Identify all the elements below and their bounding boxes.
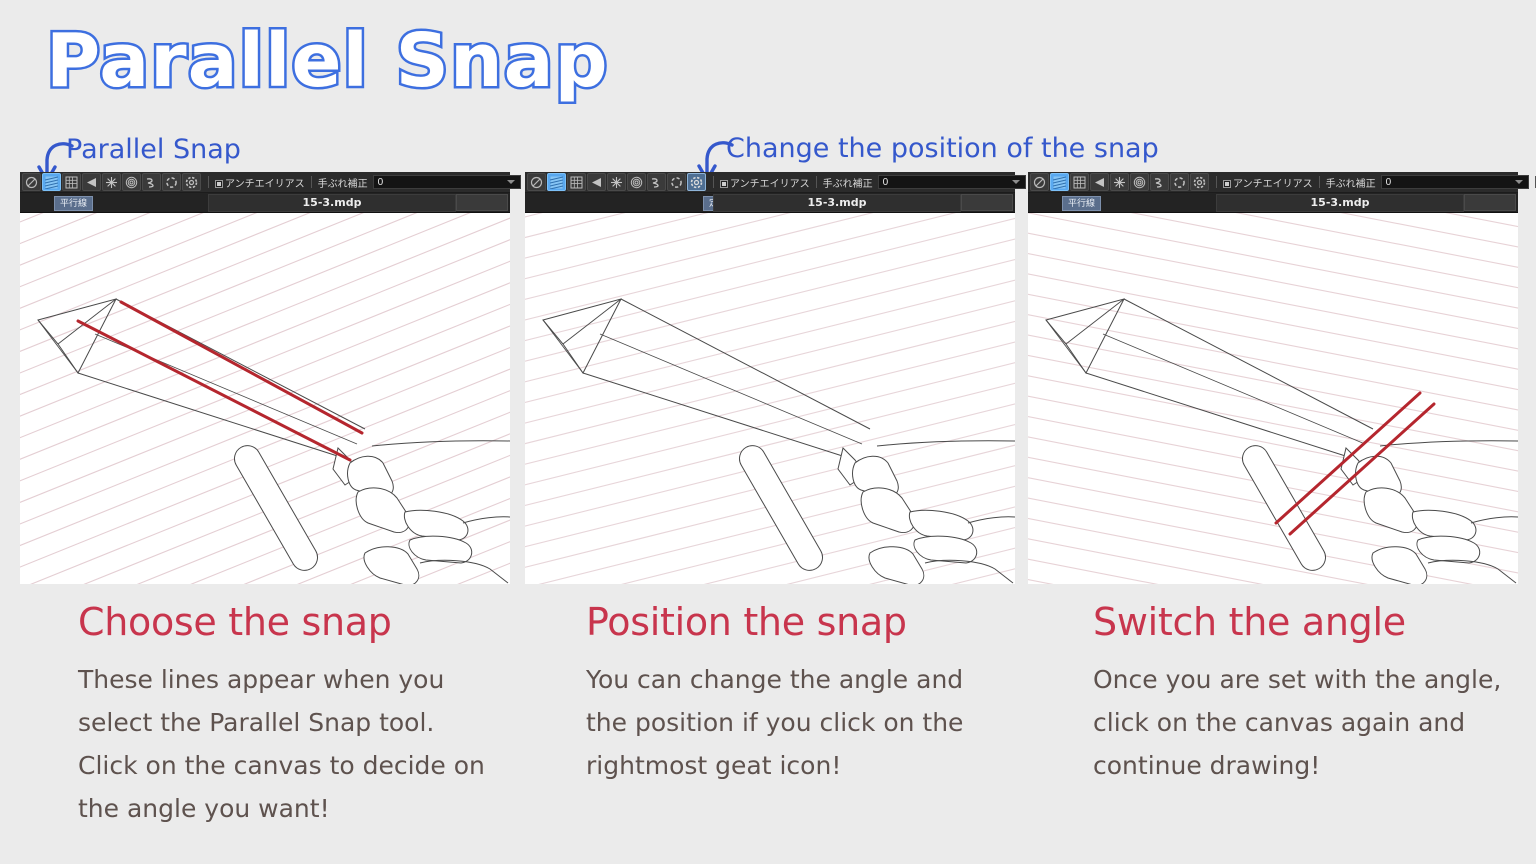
parallel-lines-snap-icon[interactable] <box>42 173 61 191</box>
toolbar-divider <box>1216 176 1217 188</box>
caption-choose-snap: Choose the snap These lines appear when … <box>78 600 548 830</box>
caption-body: You can change the angle and the positio… <box>586 658 1006 787</box>
stabilizer-label: 手ぶれ補正 <box>1326 175 1376 190</box>
perspective-snap-icon[interactable] <box>82 173 101 191</box>
snap-tooltip-1: 平行線 <box>54 196 93 211</box>
toolbar-divider <box>1319 176 1320 188</box>
stabilizer-dropdown[interactable]: 0 <box>373 175 521 189</box>
callout-change-position: Change the position of the snap <box>726 133 1159 164</box>
polygon-snap-icon[interactable] <box>162 173 181 191</box>
perspective-snap-icon[interactable] <box>587 173 606 191</box>
antialias-checkbox[interactable] <box>720 180 728 188</box>
grid-snap-icon[interactable] <box>1070 173 1089 191</box>
toolbar-divider <box>311 176 312 188</box>
toolbar-divider <box>1535 176 1536 188</box>
document-tab-1[interactable]: 15-3.mdp <box>208 194 456 212</box>
perspective-snap-icon[interactable] <box>1090 173 1109 191</box>
polygon-snap-icon[interactable] <box>667 173 686 191</box>
chevron-down-icon[interactable] <box>507 180 515 184</box>
antialias-checkbox[interactable] <box>215 180 223 188</box>
snap-settings-gear-icon[interactable] <box>182 173 201 191</box>
stabilizer-dropdown[interactable]: 0 <box>878 175 1026 189</box>
radial-snap-icon[interactable] <box>607 173 626 191</box>
parallel-lines-snap-icon[interactable] <box>1050 173 1069 191</box>
snap-settings-gear-icon[interactable] <box>687 173 706 191</box>
tab-bar-filler <box>456 194 508 211</box>
tab-bar-filler <box>961 194 1013 211</box>
caption-position-snap: Position the snap You can change the ang… <box>586 600 1056 787</box>
no-snap-icon[interactable] <box>1030 173 1049 191</box>
screenshot-panel-choose-snap: アンチエイリアス 手ぶれ補正 0 ソフトエッ 平行線 15-3.mdp <box>20 172 510 584</box>
caption-body: Once you are set with the angle, click o… <box>1093 658 1513 787</box>
chevron-down-icon[interactable] <box>1012 180 1020 184</box>
stabilizer-value: 0 <box>879 177 1012 188</box>
curve-snap-icon[interactable] <box>142 173 161 191</box>
antialias-option[interactable]: アンチエイリアス <box>1223 175 1313 190</box>
document-tab-row-1: 平行線 15-3.mdp <box>20 193 510 213</box>
stabilizer-label: 手ぶれ補正 <box>318 175 368 190</box>
stabilizer-value: 0 <box>1382 177 1515 188</box>
antialias-checkbox[interactable] <box>1223 180 1231 188</box>
callout-parallel-snap: Parallel Snap <box>66 134 241 165</box>
no-snap-icon[interactable] <box>22 173 41 191</box>
document-tab-row-3: 平行線 15-3.mdp <box>1028 193 1518 213</box>
grid-snap-icon[interactable] <box>62 173 81 191</box>
radial-snap-icon[interactable] <box>102 173 121 191</box>
document-tab-2[interactable]: 15-3.mdp <box>713 194 961 212</box>
toolbar-divider <box>816 176 817 188</box>
caption-body: These lines appear when you select the P… <box>78 658 498 830</box>
concentric-circles-snap-icon[interactable] <box>627 173 646 191</box>
stabilizer-label: 手ぶれ補正 <box>823 175 873 190</box>
slide-canvas: Parallel Snap Parallel Snap Change the p… <box>0 0 1536 864</box>
antialias-option[interactable]: アンチエイリアス <box>720 175 810 190</box>
concentric-circles-snap-icon[interactable] <box>1130 173 1149 191</box>
stabilizer-value: 0 <box>374 177 507 188</box>
caption-switch-angle: Switch the angle Once you are set with t… <box>1093 600 1536 787</box>
parallel-lines-snap-icon[interactable] <box>547 173 566 191</box>
screenshot-panel-position-snap: アンチエイリアス 手ぶれ補正 0 ソフトエッ 定規の位置を変更 15-3.mdp <box>525 172 1015 584</box>
chevron-down-icon[interactable] <box>1515 180 1523 184</box>
toolbar-divider <box>713 176 714 188</box>
drawing-canvas-3[interactable] <box>1028 213 1518 584</box>
screenshot-panel-switch-angle: アンチエイリアス 手ぶれ補正 0 ソフトエッ 平行線 15-3.mdp <box>1028 172 1518 584</box>
caption-heading: Switch the angle <box>1093 600 1536 644</box>
grid-snap-icon[interactable] <box>567 173 586 191</box>
curve-snap-icon[interactable] <box>647 173 666 191</box>
page-title: Parallel Snap <box>46 18 609 104</box>
curve-snap-icon[interactable] <box>1150 173 1169 191</box>
drawing-canvas-2[interactable] <box>525 213 1015 584</box>
stabilizer-dropdown[interactable]: 0 <box>1381 175 1529 189</box>
snap-settings-gear-icon[interactable] <box>1190 173 1209 191</box>
drawing-canvas-1[interactable] <box>20 213 510 584</box>
polygon-snap-icon[interactable] <box>1170 173 1189 191</box>
tab-bar-filler <box>1464 194 1516 211</box>
caption-heading: Choose the snap <box>78 600 548 644</box>
no-snap-icon[interactable] <box>527 173 546 191</box>
antialias-option[interactable]: アンチエイリアス <box>215 175 305 190</box>
snap-tooltip-3: 平行線 <box>1062 196 1101 211</box>
radial-snap-icon[interactable] <box>1110 173 1129 191</box>
document-tab-row-2: 定規の位置を変更 15-3.mdp <box>525 193 1015 213</box>
document-tab-3[interactable]: 15-3.mdp <box>1216 194 1464 212</box>
caption-heading: Position the snap <box>586 600 1056 644</box>
snap-toolbar-2: アンチエイリアス 手ぶれ補正 0 ソフトエッ <box>525 172 1015 193</box>
snap-toolbar-1: アンチエイリアス 手ぶれ補正 0 ソフトエッ <box>20 172 510 193</box>
toolbar-divider <box>208 176 209 188</box>
snap-toolbar-3: アンチエイリアス 手ぶれ補正 0 ソフトエッ <box>1028 172 1518 193</box>
concentric-circles-snap-icon[interactable] <box>122 173 141 191</box>
